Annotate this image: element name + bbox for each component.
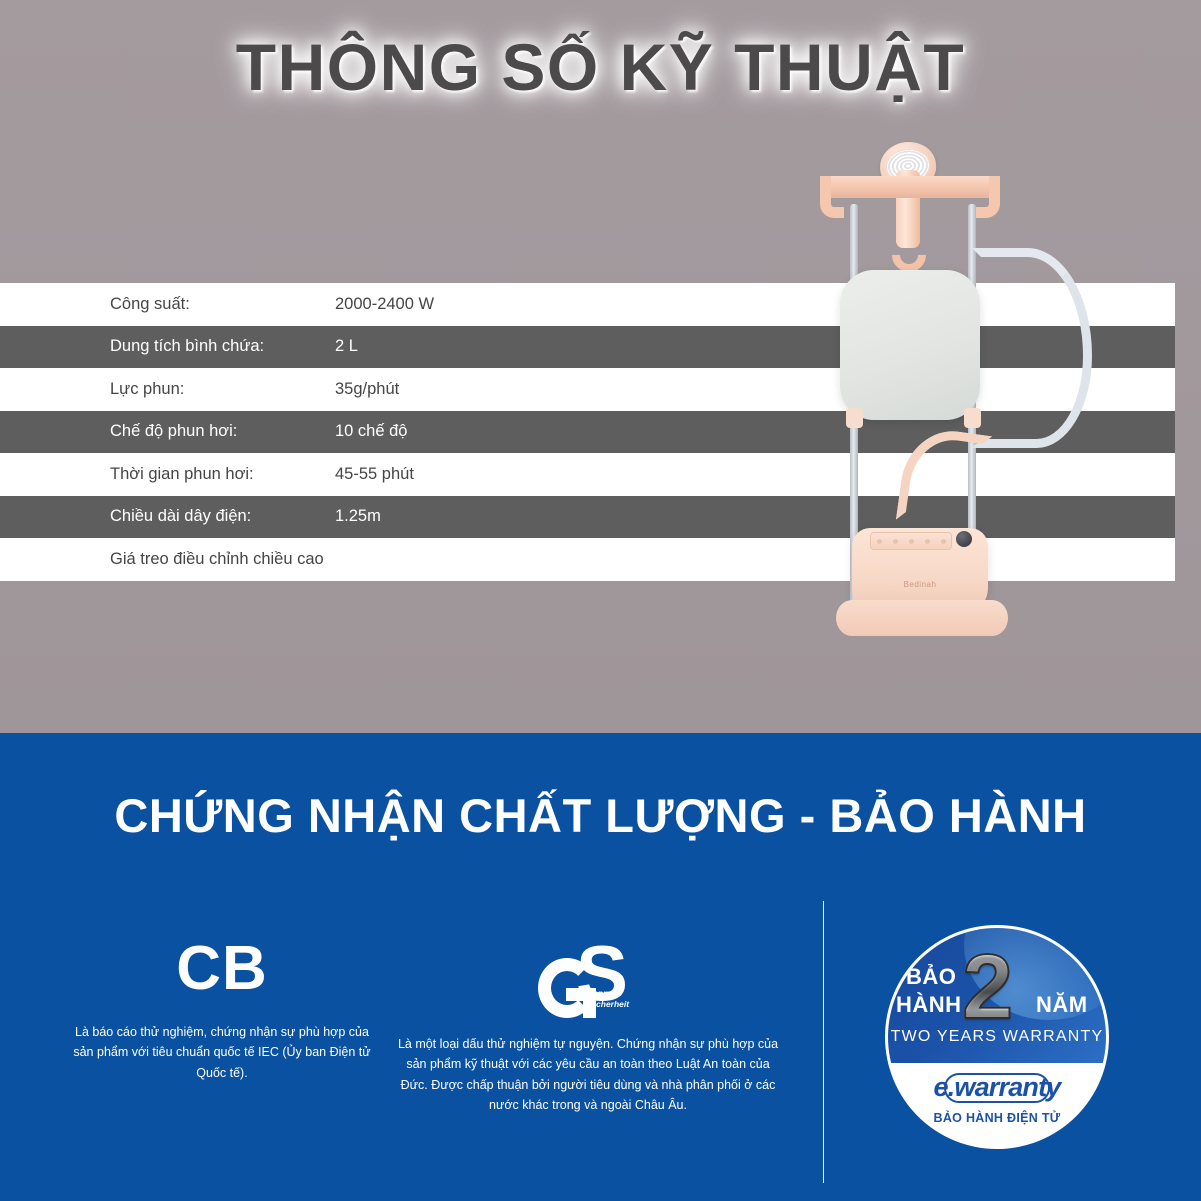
warranty-english-label: TWO YEARS WARRANTY <box>888 1028 1106 1046</box>
gs-description: Là một loại dấu thử nghiệm tự nguyện. Ch… <box>388 1034 788 1115</box>
table-row: Công suất: 2000-2400 W <box>0 283 1175 326</box>
warranty-bao-label: BẢO <box>906 964 956 990</box>
spec-value: 10 chế độ <box>335 422 407 441</box>
table-row: Chế độ phun hơi: 10 chế độ <box>0 411 1175 454</box>
spec-value: 2 L <box>335 337 358 356</box>
hanger-arm-right <box>976 176 1000 218</box>
gs-sub-line2: Sicherheit <box>588 999 629 1009</box>
base-tray <box>836 600 1008 636</box>
hanger-hook-icon <box>885 231 933 279</box>
gs-certification-block: S geprufte Sicherheit Là một loại dấu th… <box>388 944 788 1115</box>
warranty-badge: BẢO HÀNH 2 NĂM TWO YEARS WARRANTY e.warr… <box>888 928 1106 1146</box>
table-row: Chiều dài dây điện: 1.25m <box>0 496 1175 539</box>
warranty-badge-bottom: e.warranty BẢO HÀNH ĐIỆN TỬ <box>888 1063 1106 1146</box>
table-row: Thời gian phun hơi: 45-55 phút <box>0 453 1175 496</box>
spec-section: THÔNG SỐ KỸ THUẬT Công suất: 2000-2400 W… <box>0 0 1201 733</box>
spec-label: Công suất: <box>110 295 335 314</box>
page-title: THÔNG SỐ KỸ THUẬT <box>0 26 1201 109</box>
warranty-years-number: 2 <box>962 944 1013 1031</box>
spec-value: 45-55 phút <box>335 465 414 484</box>
spec-label: Chiều dài dây điện: <box>110 507 335 526</box>
vertical-divider <box>823 901 824 1183</box>
cb-logo: CB <box>52 938 392 1000</box>
spec-label: Thời gian phun hơi: <box>110 465 335 484</box>
cb-description: Là báo cáo thử nghiệm, chứng nhận sự phù… <box>52 1022 392 1083</box>
hanger-bar <box>820 176 1000 198</box>
hanger-neck <box>896 170 920 248</box>
gs-logo-icon: S geprufte Sicherheit <box>536 944 640 1020</box>
ewarranty-logo: e.warranty <box>888 1072 1106 1103</box>
steam-head-icon <box>878 139 939 193</box>
spec-value: 2000-2400 W <box>335 295 434 314</box>
spec-label: Lực phun: <box>110 380 335 399</box>
certification-title: CHỨNG NHẬN CHẤT LƯỢNG - BẢO HÀNH <box>0 788 1201 843</box>
ewarranty-vietnamese-label: BẢO HÀNH ĐIỆN TỬ <box>888 1111 1106 1125</box>
table-row: Giá treo điều chỉnh chiều cao <box>0 538 1175 581</box>
product-brand-label: Bedinah <box>852 580 988 589</box>
spec-label: Dung tích bình chứa: <box>110 337 335 356</box>
table-row: Dung tích bình chứa: 2 L <box>0 326 1175 369</box>
table-row: Lực phun: 35g/phút <box>0 368 1175 411</box>
warranty-hanh-label: HÀNH <box>896 992 962 1018</box>
spec-label: Giá treo điều chỉnh chiều cao <box>110 550 324 569</box>
page-root: THÔNG SỐ KỸ THUẬT Công suất: 2000-2400 W… <box>0 0 1201 1201</box>
spec-table: Công suất: 2000-2400 W Dung tích bình ch… <box>0 283 1175 581</box>
spec-value: 1.25m <box>335 507 381 526</box>
hanger-arm-left <box>820 176 844 218</box>
spec-value: 35g/phút <box>335 380 399 399</box>
steam-plate-icon <box>884 147 931 185</box>
spec-label: Chế độ phun hơi: <box>110 422 335 441</box>
gs-sub-line1: geprufte <box>588 988 622 998</box>
cb-certification-block: CB Là báo cáo thử nghiệm, chứng nhận sự … <box>52 938 392 1083</box>
warranty-nam-label: NĂM <box>1036 992 1088 1018</box>
gs-sub-text: geprufte Sicherheit <box>588 988 629 1009</box>
